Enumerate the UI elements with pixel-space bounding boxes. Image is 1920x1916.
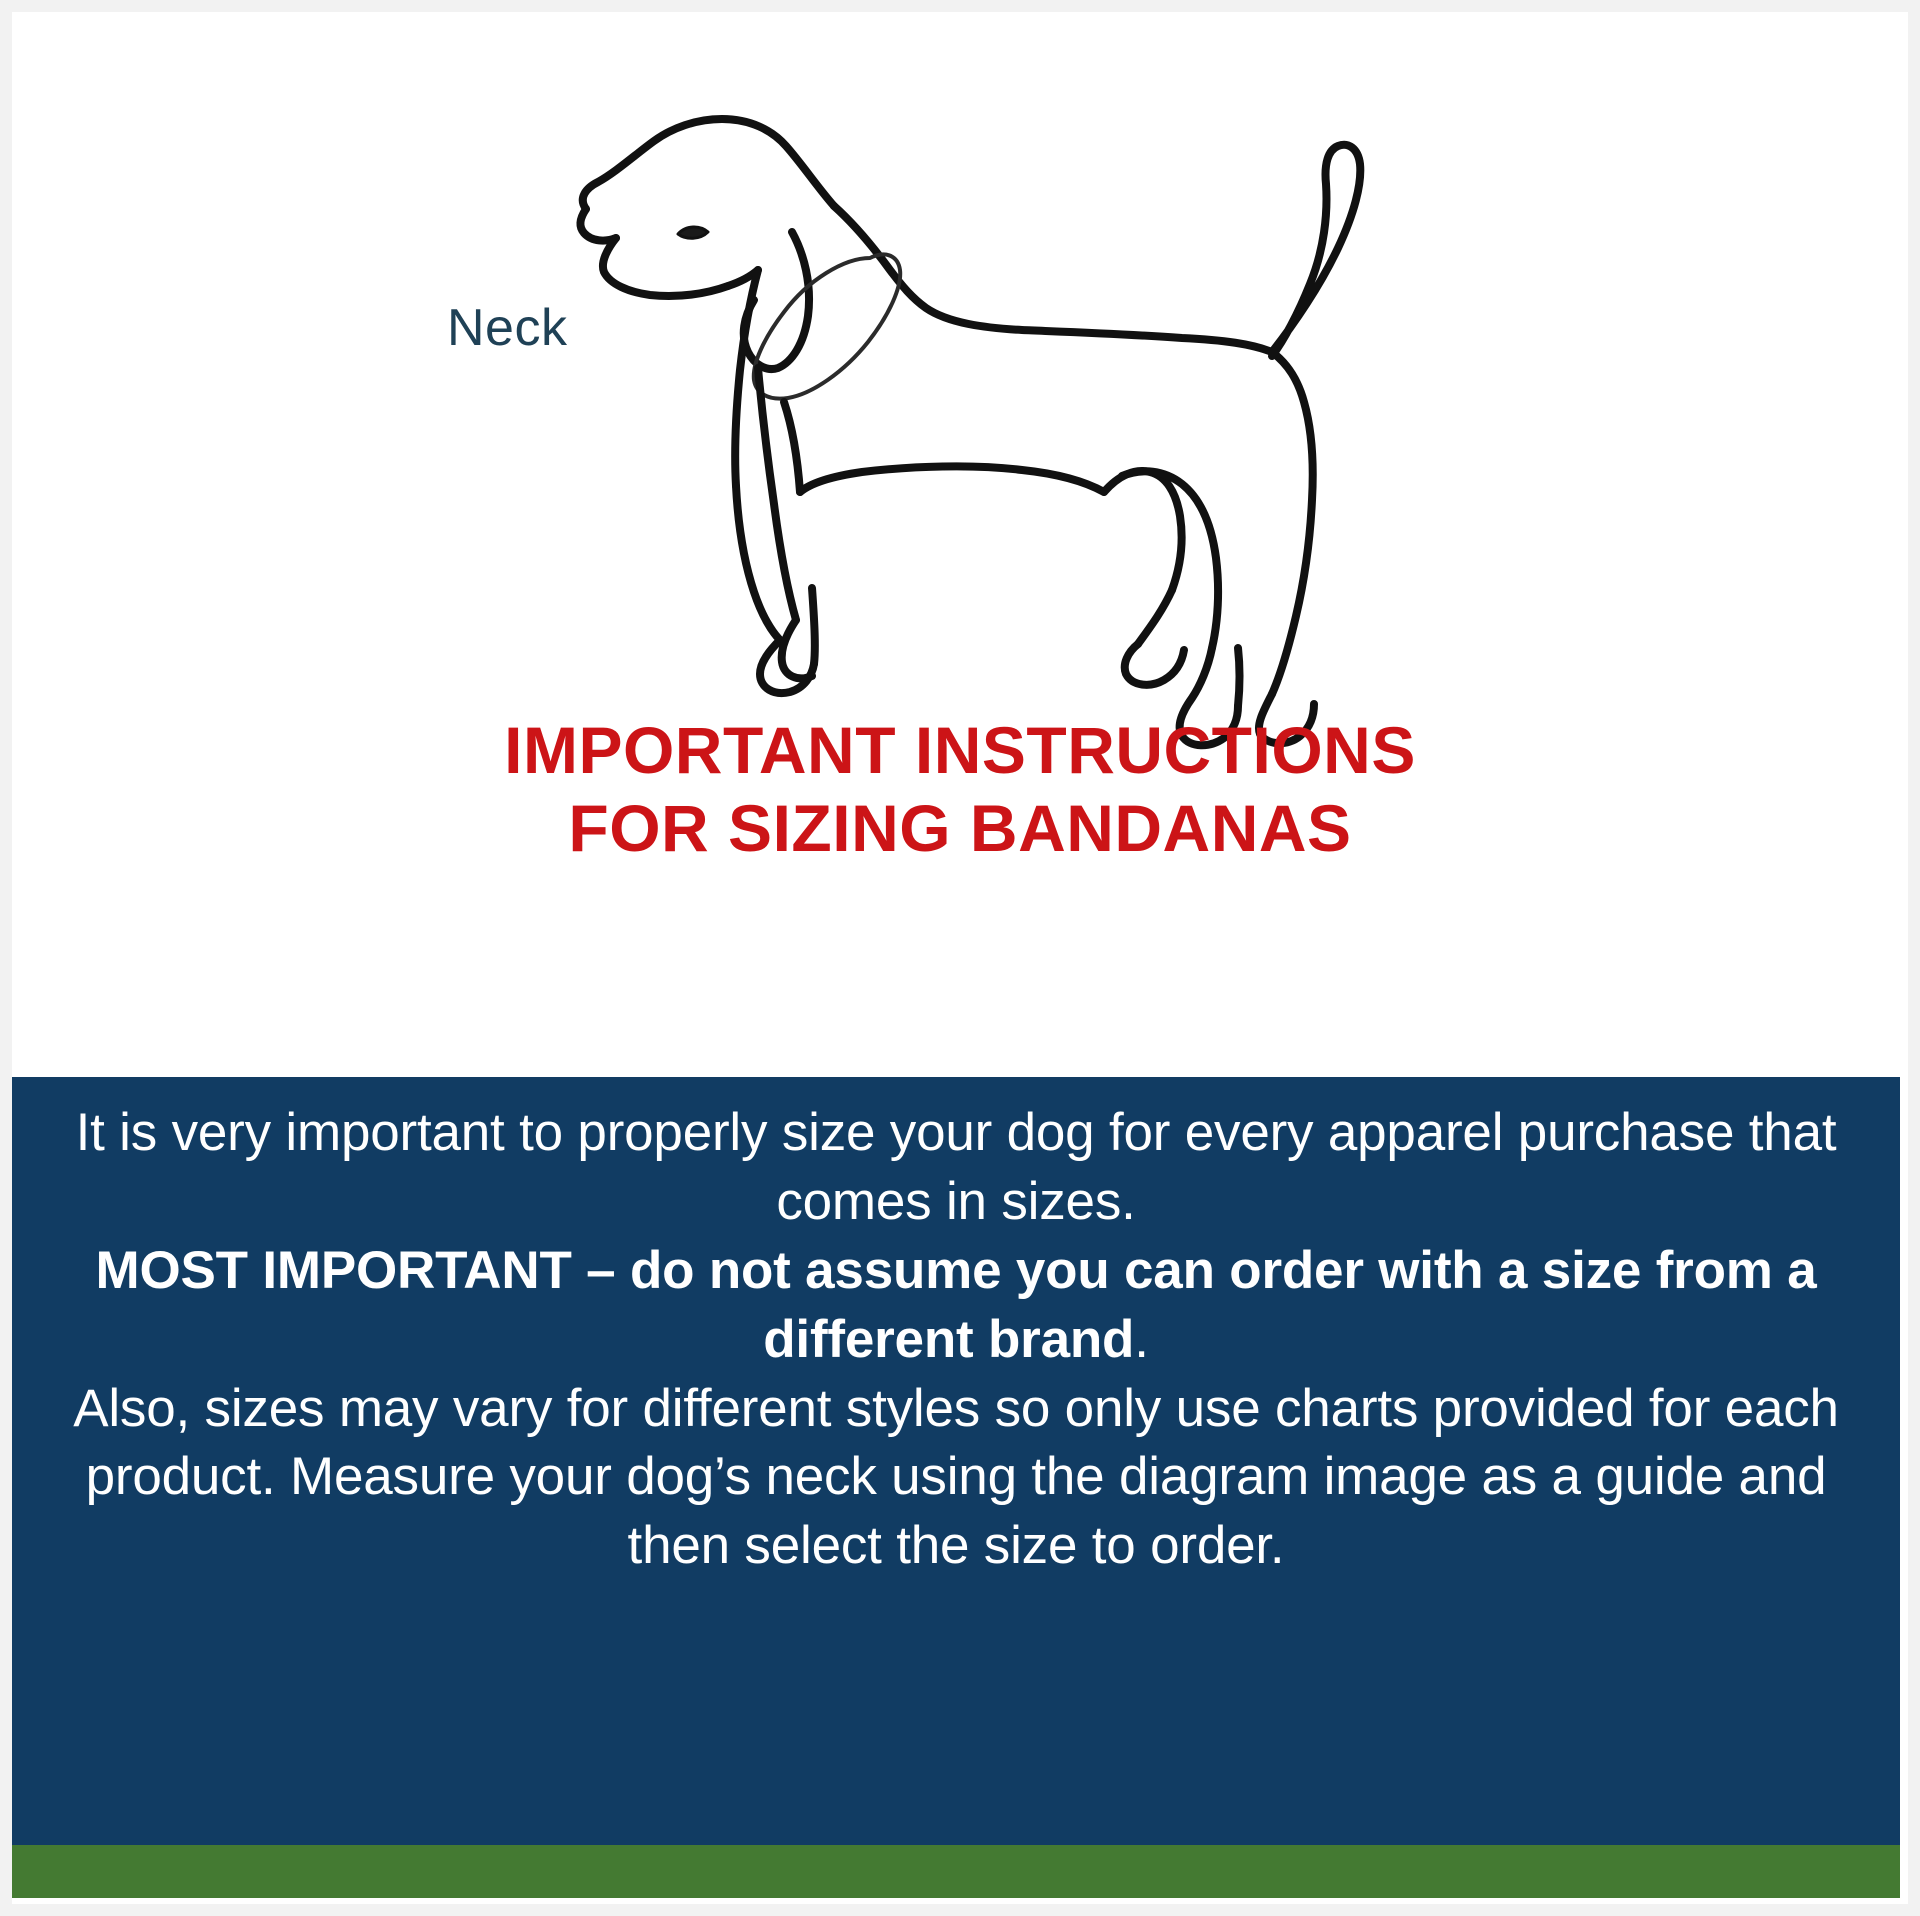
instructions-paragraph-2-tail: . <box>1134 1310 1149 1369</box>
sizing-guide-image: Neck IMPORTANT INSTRUCTIONS FOR SIZING B… <box>0 0 1920 1916</box>
image-card: Neck IMPORTANT INSTRUCTIONS FOR SIZING B… <box>12 12 1908 1904</box>
neck-label: Neck <box>447 302 567 354</box>
instructions-panel: It is very important to properly size yo… <box>12 1077 1900 1845</box>
footer-accent-bar <box>12 1845 1900 1898</box>
instructions-paragraph-3: Also, sizes may vary for different style… <box>58 1375 1854 1582</box>
dog-side-profile-line-drawing-icon <box>482 72 1382 772</box>
dog-measurement-diagram: Neck <box>12 12 1908 802</box>
page-title-line-1: IMPORTANT INSTRUCTIONS <box>12 712 1908 790</box>
instructions-paragraph-2: MOST IMPORTANT – do not assume you can o… <box>58 1237 1854 1375</box>
page-title: IMPORTANT INSTRUCTIONS FOR SIZING BANDAN… <box>12 712 1908 868</box>
instructions-paragraph-2-bold: MOST IMPORTANT – do not assume you can o… <box>96 1241 1817 1369</box>
page-title-line-2: FOR SIZING BANDANAS <box>12 790 1908 868</box>
instructions-paragraph-1: It is very important to properly size yo… <box>58 1099 1854 1237</box>
